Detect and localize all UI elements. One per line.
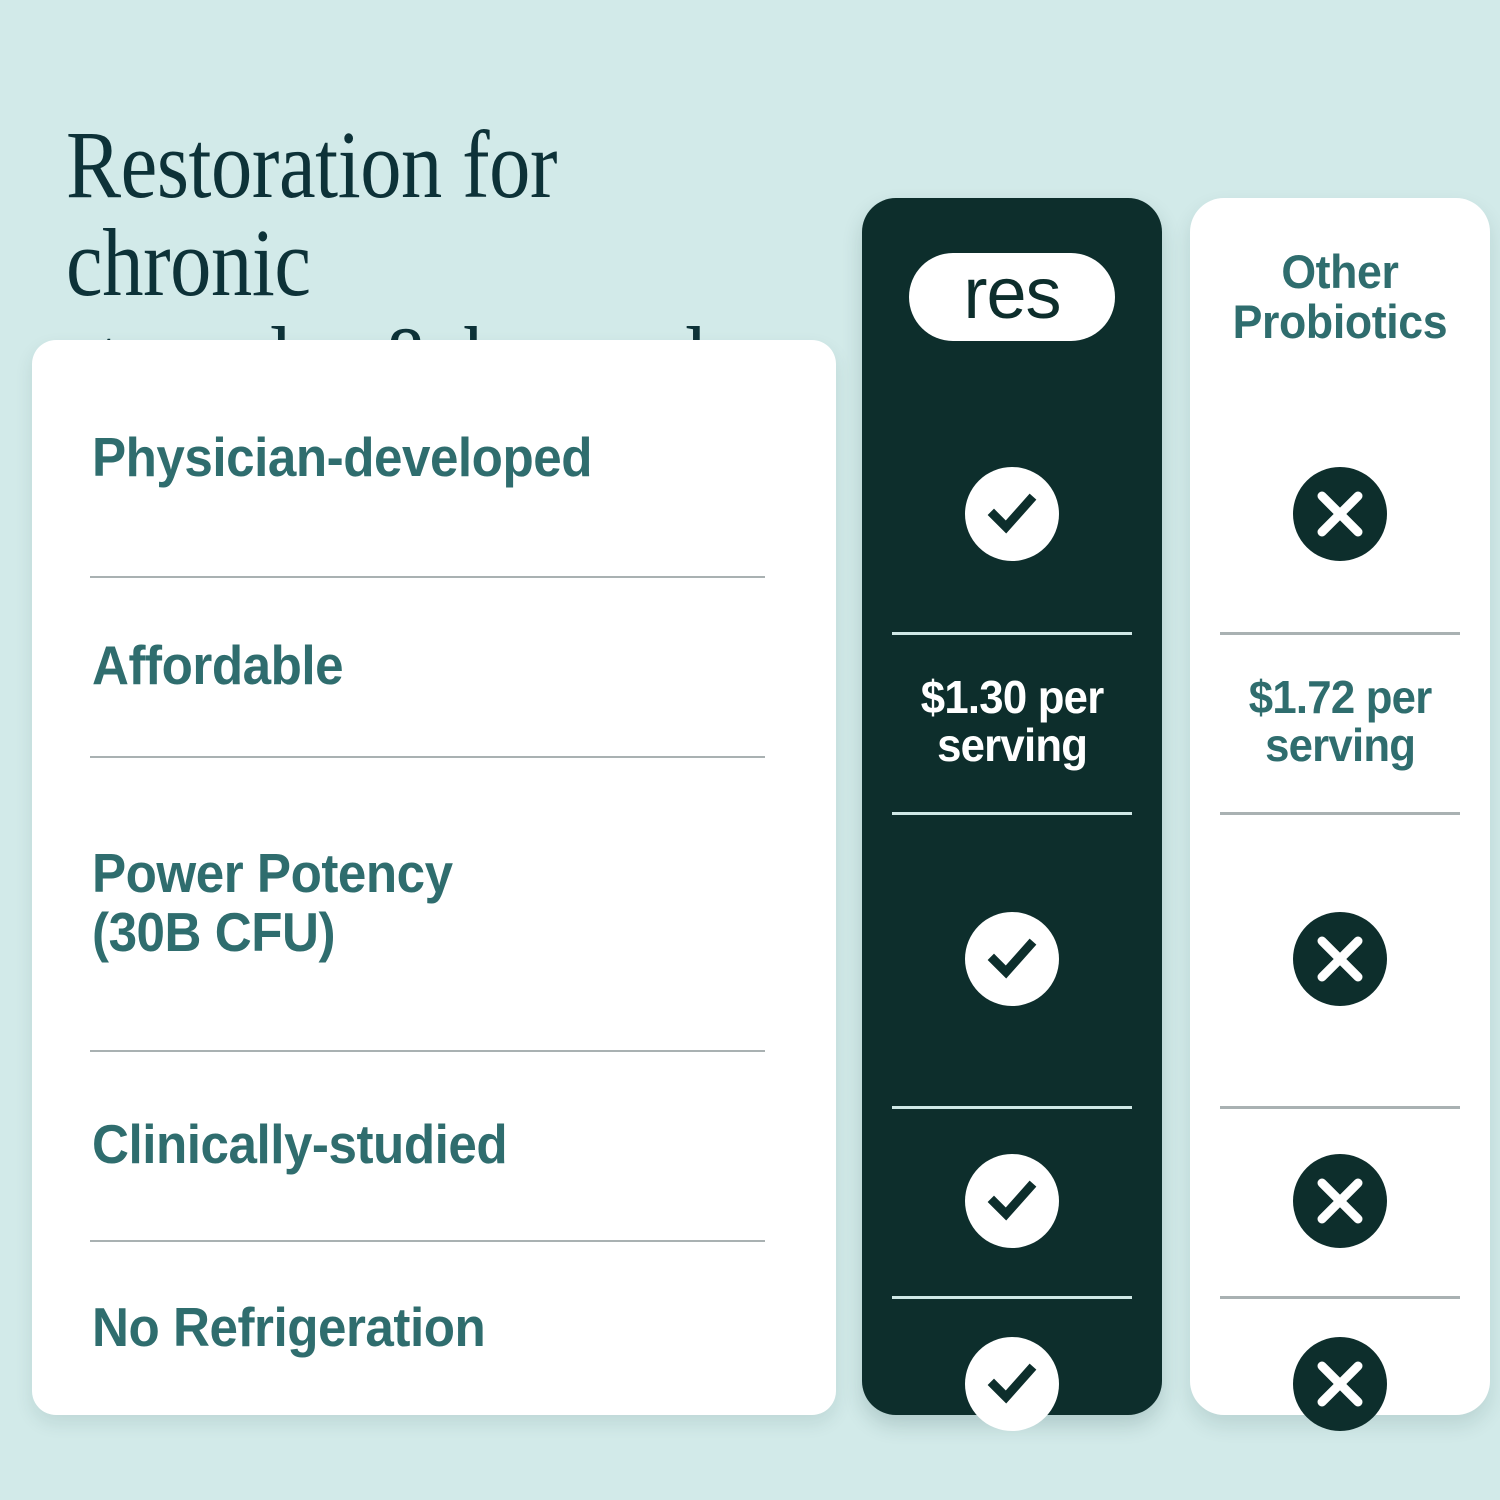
x-icon: [1293, 1154, 1387, 1248]
comparison-cell: [1216, 1296, 1464, 1471]
column-res-cells: $1.30 per serving: [862, 396, 1162, 1471]
comparison-cell: [1216, 1106, 1464, 1296]
comparison-cell: [888, 812, 1136, 1106]
feature-row: Clinically-studied: [58, 1050, 810, 1240]
res-price-label: $1.30 per serving: [921, 674, 1104, 770]
comparison-cell: [888, 396, 1136, 632]
column-res-header: res: [862, 198, 1162, 396]
check-icon: [965, 912, 1059, 1006]
comparison-cell: [1216, 812, 1464, 1106]
column-other-cells: $1.72 per serving: [1190, 396, 1490, 1471]
column-other-header-label: Other Probiotics: [1233, 247, 1448, 348]
page-title-line-1: Restoration for chronic: [66, 111, 557, 316]
feature-label: Power Potency (30B CFU): [92, 844, 453, 963]
check-icon: [965, 467, 1059, 561]
comparison-cell: $1.30 per serving: [888, 632, 1136, 812]
check-icon: [965, 1337, 1059, 1431]
feature-label: Physician-developed: [92, 428, 592, 487]
feature-label: Clinically-studied: [92, 1115, 507, 1174]
other-price-label: $1.72 per serving: [1249, 674, 1432, 770]
comparison-chart-root: Restoration for chronic struggles & beyo…: [0, 0, 1500, 1500]
comparison-cell: [888, 1296, 1136, 1471]
comparison-cell: [888, 1106, 1136, 1296]
feature-row: Power Potency (30B CFU): [58, 756, 810, 1050]
feature-label: No Refrigeration: [92, 1298, 485, 1357]
res-logo-badge: res: [909, 253, 1115, 341]
check-icon: [965, 1154, 1059, 1248]
comparison-cell: $1.72 per serving: [1216, 632, 1464, 812]
x-icon: [1293, 1337, 1387, 1431]
feature-row: No Refrigeration: [58, 1240, 810, 1415]
column-other-header: Other Probiotics: [1190, 198, 1490, 396]
features-card: Physician-developedAffordablePower Poten…: [32, 340, 836, 1415]
feature-label: Affordable: [92, 636, 343, 695]
comparison-cell: [1216, 396, 1464, 632]
x-icon: [1293, 467, 1387, 561]
feature-row: Physician-developed: [58, 340, 810, 576]
x-icon: [1293, 912, 1387, 1006]
column-other-probiotics: Other Probiotics $1.72 per serving: [1190, 198, 1490, 1415]
res-logo-text: res: [963, 258, 1060, 336]
feature-row: Affordable: [58, 576, 810, 756]
feature-list: Physician-developedAffordablePower Poten…: [32, 340, 836, 1415]
column-res: res $1.30 per serving: [862, 198, 1162, 1415]
